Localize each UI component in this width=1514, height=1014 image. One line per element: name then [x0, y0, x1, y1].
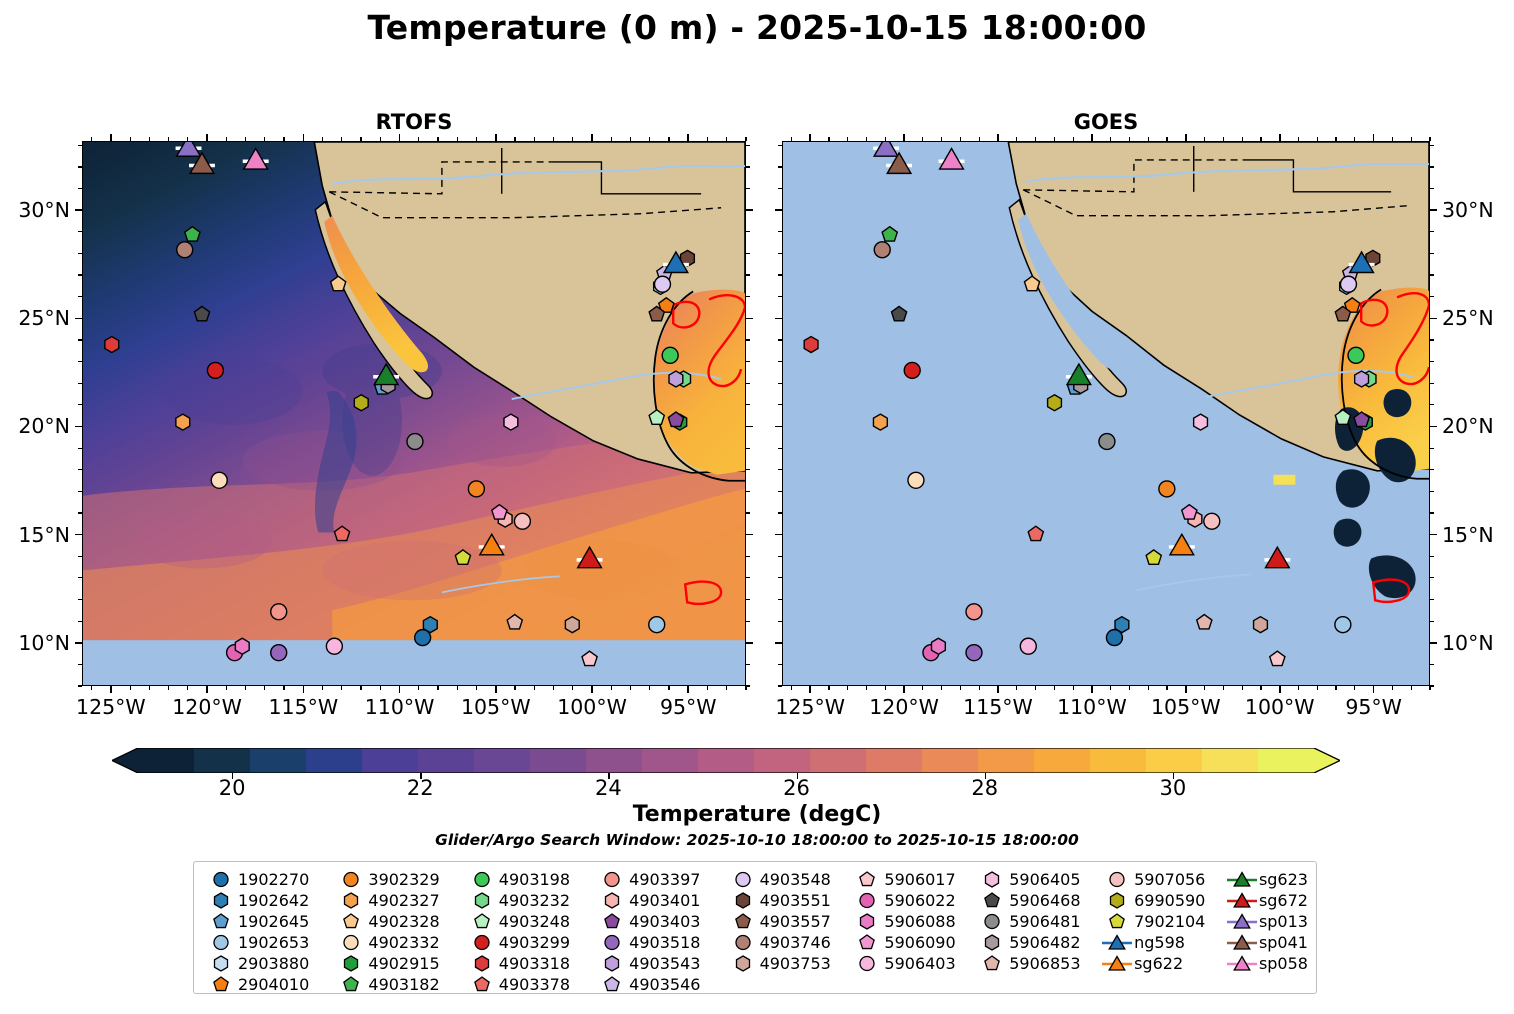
marker-4902327[interactable] — [873, 414, 887, 430]
ytick-rtofs-3 — [75, 318, 82, 320]
legend-label-sp058: sp058 — [1259, 954, 1308, 973]
marker-7902104[interactable] — [1146, 550, 1161, 564]
legend-label-5906481: 5906481 — [1009, 912, 1080, 931]
ytick-r-goes-4 — [1430, 209, 1437, 211]
ytick-rtofs-0 — [75, 642, 82, 644]
ytick-minor-r-rtofs-19 — [746, 448, 750, 449]
xtick-minor-rtofs--122 — [168, 686, 169, 690]
yticklabel-left-1: 15°N — [0, 523, 70, 547]
xtick-minor-goes--111 — [1073, 686, 1074, 690]
marker-7902104[interactable] — [455, 550, 470, 564]
ytick-minor-goes-11 — [778, 621, 782, 622]
xtick-minor-top-rtofs--102 — [553, 137, 554, 141]
xtick-goes-2 — [997, 686, 999, 693]
marker-4903753[interactable] — [565, 617, 579, 633]
marker-4903299[interactable] — [207, 362, 223, 378]
legend-item-5906022[interactable]: 5906022 — [850, 890, 975, 911]
colorbar-tick-1 — [420, 773, 421, 779]
xtick-minor-top-rtofs--109 — [418, 137, 419, 141]
ytick-minor-r-goes-11 — [1430, 621, 1434, 622]
xtick-minor-goes--116 — [979, 686, 980, 690]
ytick-minor-goes-14 — [778, 556, 782, 557]
legend-item-5906403[interactable]: 5906403 — [850, 953, 975, 974]
legend-item-4903378[interactable]: 4903378 — [465, 974, 595, 995]
colorbar-band-1 — [194, 748, 251, 773]
legend-item-sp013[interactable]: sp013 — [1225, 911, 1308, 932]
ytick-minor-rtofs-27 — [78, 274, 82, 275]
marker-4903299[interactable] — [904, 362, 920, 378]
legend-item-4902328[interactable]: 4902328 — [334, 911, 464, 932]
legend-item-4903401[interactable]: 4903401 — [595, 890, 725, 911]
ytick-minor-r-rtofs-21 — [746, 404, 750, 405]
ytick-minor-r-goes-31 — [1430, 188, 1434, 189]
marker-1902653[interactable] — [649, 617, 665, 633]
marker-5906090[interactable] — [1182, 505, 1197, 519]
legend-label-4902915: 4902915 — [368, 954, 439, 973]
xtick-top-goes-1 — [903, 134, 905, 141]
legend-marker-5906405 — [975, 869, 1009, 890]
xtick-minor-top-goes--99 — [1298, 137, 1299, 141]
legend-item-4903518[interactable]: 4903518 — [595, 932, 725, 953]
ytick-rtofs-1 — [75, 534, 82, 536]
xtick-minor-rtofs--118 — [245, 686, 246, 690]
colorbar-band-14 — [922, 748, 979, 773]
legend-item-sg622[interactable]: sg622 — [1100, 953, 1225, 974]
xtick-minor-top-rtofs--119 — [226, 137, 227, 141]
xticklabel-goes-4: 105°W — [1151, 695, 1221, 719]
legend-item-sg672[interactable]: sg672 — [1225, 890, 1308, 911]
marker-4902332[interactable] — [211, 472, 227, 488]
xticklabel-goes-1: 120°W — [869, 695, 939, 719]
xtick-minor-top-goes--94 — [1392, 137, 1393, 141]
legend-label-6990590: 6990590 — [1134, 891, 1205, 910]
legend-marker-5906468 — [975, 890, 1009, 911]
ytick-minor-goes-9 — [778, 664, 782, 665]
marker-sp058[interactable] — [939, 149, 965, 170]
xtick-goes-0 — [809, 686, 811, 693]
marker-4902328[interactable] — [331, 276, 346, 290]
ytick-r-rtofs-1 — [746, 534, 753, 536]
figure-suptitle: Temperature (0 m) - 2025-10-15 18:00:00 — [0, 8, 1514, 47]
legend-label-4903548: 4903548 — [760, 870, 831, 889]
ytick-minor-r-rtofs-32 — [746, 166, 750, 167]
xtick-minor-top-goes--109 — [1110, 137, 1111, 141]
xtick-minor-goes--99 — [1298, 686, 1299, 690]
legend-marker-4903557 — [726, 911, 760, 932]
legend-marker-4903232 — [465, 890, 499, 911]
xtick-minor-rtofs--92 — [745, 686, 746, 690]
xticklabel-rtofs-6: 95°W — [660, 695, 717, 719]
legend-marker-1902642 — [204, 890, 238, 911]
marker-sg622[interactable] — [1169, 534, 1195, 555]
marker-4903543[interactable] — [669, 371, 683, 387]
legend-item-5906468[interactable]: 5906468 — [975, 890, 1100, 911]
legend-item-4903543[interactable]: 4903543 — [595, 953, 725, 974]
ytick-minor-rtofs-28 — [78, 253, 82, 254]
marker-5906481[interactable] — [407, 434, 423, 450]
marker-5906481[interactable] — [1099, 434, 1115, 450]
ytick-minor-goes-33 — [778, 145, 782, 146]
marker-4902328[interactable] — [1024, 276, 1039, 290]
colorbar-tick-labels: 202224262830 — [0, 776, 1514, 802]
colorbar-ticklabel-0: 20 — [219, 776, 246, 800]
legend-item-4903557[interactable]: 4903557 — [726, 911, 851, 932]
legend-marker-5906022 — [850, 890, 884, 911]
marker-4903182[interactable] — [185, 227, 200, 241]
marker-4903548[interactable] — [1341, 276, 1357, 292]
legend-marker-sp041 — [1225, 932, 1259, 953]
marker-5906405[interactable] — [1194, 414, 1208, 430]
legend-column-2: 4903198490323249032484903299490331849033… — [465, 869, 595, 995]
marker-5906090[interactable] — [492, 505, 507, 519]
marker-1902642[interactable] — [1115, 617, 1129, 633]
marker-4903182[interactable] — [882, 227, 897, 241]
legend-item-4903551[interactable]: 4903551 — [726, 890, 851, 911]
xtick-minor-goes--104 — [1204, 686, 1205, 690]
ytick-minor-rtofs-26 — [78, 296, 82, 297]
legend-marker-sg622 — [1100, 953, 1134, 974]
xtick-goes-6 — [1373, 686, 1375, 693]
ytick-minor-rtofs-8 — [78, 685, 82, 686]
legend-item-5907056[interactable]: 5907056 — [1100, 869, 1225, 890]
legend-item-4903299[interactable]: 4903299 — [465, 932, 595, 953]
xtick-minor-rtofs--101 — [572, 686, 573, 690]
legend-item-7902104[interactable]: 7902104 — [1100, 911, 1225, 932]
colorbar-extend-max — [1314, 748, 1340, 773]
colorbar[interactable] — [112, 748, 1340, 773]
marker-5906088[interactable] — [235, 638, 249, 654]
marker-sg623[interactable] — [1066, 364, 1092, 385]
xtick-minor-top-goes--126 — [791, 137, 792, 141]
legend-marker-5906403 — [850, 953, 884, 974]
marker-1902642[interactable] — [423, 617, 437, 633]
marker-4902332[interactable] — [908, 472, 924, 488]
legend-item-1902653[interactable]: 1902653 — [204, 932, 334, 953]
colorbar-tick-5 — [1173, 773, 1174, 779]
xtick-minor-top-rtofs--98 — [630, 137, 631, 141]
marker-4903248[interactable] — [649, 410, 664, 424]
legend-item-4903397[interactable]: 4903397 — [595, 869, 725, 890]
legend-marker-4903378 — [465, 974, 499, 995]
colorbar-band-6 — [474, 748, 531, 773]
xtick-minor-top-goes--101 — [1260, 137, 1261, 141]
legend-marker-ng598 — [1100, 932, 1134, 953]
xtick-minor-top-goes--112 — [1054, 137, 1055, 141]
xtick-minor-top-rtofs--103 — [534, 137, 535, 141]
marker-5907056[interactable] — [514, 513, 530, 529]
xtick-minor-top-rtofs--113 — [341, 137, 342, 141]
xtick-minor-rtofs--112 — [360, 686, 361, 690]
marker-5906853[interactable] — [507, 615, 522, 629]
ytick-minor-goes-29 — [778, 231, 782, 232]
marker-4903198[interactable] — [1348, 347, 1364, 363]
xtick-top-goes-2 — [997, 134, 999, 141]
xtick-minor-goes--98 — [1317, 686, 1318, 690]
legend-item-sp058[interactable]: sp058 — [1225, 953, 1308, 974]
colorbar-band-4 — [362, 748, 419, 773]
ytick-minor-goes-27 — [778, 274, 782, 275]
legend-label-4903299: 4903299 — [499, 933, 570, 952]
legend-item-sp041[interactable]: sp041 — [1225, 932, 1308, 953]
legend-marker-4903548 — [726, 869, 760, 890]
marker-sp013[interactable] — [176, 142, 202, 156]
legend-item-2903880[interactable]: 2903880 — [204, 953, 334, 974]
legend-marker-5906482 — [975, 932, 1009, 953]
xtick-goes-3 — [1091, 686, 1093, 693]
ytick-minor-goes-13 — [778, 577, 782, 578]
marker-4903403[interactable] — [1354, 412, 1369, 426]
ytick-minor-r-rtofs-26 — [746, 296, 750, 297]
legend-marker-sp058 — [1225, 953, 1259, 974]
marker-4903248[interactable] — [1335, 410, 1350, 424]
legend-item-1902642[interactable]: 1902642 — [204, 890, 334, 911]
ytick-minor-rtofs-9 — [78, 664, 82, 665]
xtick-minor-rtofs--113 — [341, 686, 342, 690]
legend-item-1902645[interactable]: 1902645 — [204, 911, 334, 932]
xtick-minor-goes--109 — [1110, 686, 1111, 690]
marker-4903378[interactable] — [1028, 526, 1043, 540]
map-panel-rtofs[interactable] — [82, 141, 746, 686]
marker-1902653[interactable] — [1335, 617, 1351, 633]
legend-item-4903232[interactable]: 4903232 — [465, 890, 595, 911]
marker-3902329[interactable] — [1159, 481, 1175, 497]
xticklabel-rtofs-0: 125°W — [76, 695, 146, 719]
ytick-r-goes-0 — [1430, 642, 1437, 644]
legend-item-4903182[interactable]: 4903182 — [334, 974, 464, 995]
ytick-rtofs-4 — [75, 209, 82, 211]
ytick-minor-r-goes-8 — [1430, 685, 1434, 686]
legend-column-4: 49035484903551490355749037464903753 — [726, 869, 851, 974]
xtick-goes-4 — [1185, 686, 1187, 693]
legend-label-sg672: sg672 — [1259, 891, 1308, 910]
xtick-minor-goes--112 — [1054, 686, 1055, 690]
legend-label-4903551: 4903551 — [760, 891, 831, 910]
xtick-top-rtofs-1 — [206, 134, 208, 141]
marker-4903403[interactable] — [668, 412, 683, 426]
marker-5906017[interactable] — [1270, 651, 1285, 665]
xtick-top-rtofs-0 — [110, 134, 112, 141]
marker-sg622[interactable] — [479, 534, 505, 555]
colorbar-gradient — [112, 748, 1340, 773]
marker-4903746[interactable] — [177, 242, 193, 258]
ytick-minor-r-goes-9 — [1430, 664, 1434, 665]
legend-item-5906088[interactable]: 5906088 — [850, 911, 975, 932]
legend-item-5906482[interactable]: 5906482 — [975, 932, 1100, 953]
legend-item-4902332[interactable]: 4902332 — [334, 932, 464, 953]
marker-4903397[interactable] — [966, 604, 982, 620]
marker-4903548[interactable] — [655, 276, 671, 292]
xtick-minor-goes--97 — [1335, 686, 1336, 690]
xtick-minor-top-rtofs--106 — [476, 137, 477, 141]
ytick-minor-rtofs-11 — [78, 621, 82, 622]
search-window-caption: Glider/Argo Search Window: 2025-10-10 18… — [0, 831, 1514, 849]
legend-label-1902642: 1902642 — [238, 891, 309, 910]
xtick-minor-top-goes--123 — [847, 137, 848, 141]
xtick-top-rtofs-4 — [495, 134, 497, 141]
marker-4903318[interactable] — [105, 337, 119, 353]
ytick-minor-goes-22 — [778, 383, 782, 384]
legend-label-5906403: 5906403 — [884, 954, 955, 973]
goes-observation-markers[interactable] — [783, 142, 1429, 685]
legend-item-5906017[interactable]: 5906017 — [850, 869, 975, 890]
marker-sp058[interactable] — [243, 149, 269, 170]
xtick-rtofs-0 — [110, 686, 112, 693]
ytick-minor-r-goes-13 — [1430, 577, 1434, 578]
xtick-minor-rtofs--94 — [707, 686, 708, 690]
legend-item-4903746[interactable]: 4903746 — [726, 932, 851, 953]
ytick-minor-r-rtofs-27 — [746, 274, 750, 275]
legend-item-ng598[interactable]: ng598 — [1100, 932, 1225, 953]
xtick-minor-rtofs--106 — [476, 686, 477, 690]
legend-item-4903403[interactable]: 4903403 — [595, 911, 725, 932]
marker-4903543[interactable] — [1355, 371, 1369, 387]
marker-4903198[interactable] — [662, 347, 678, 363]
legend-column-0: 1902270190264219026451902653290388029040… — [204, 869, 334, 995]
marker-5906853[interactable] — [1197, 615, 1212, 629]
map-panel-goes[interactable] — [782, 141, 1430, 686]
colorbar-band-20 — [1258, 748, 1315, 773]
marker-sg672[interactable] — [1264, 547, 1290, 568]
xtick-minor-goes--123 — [847, 686, 848, 690]
xtick-minor-goes--96 — [1354, 686, 1355, 690]
legend-marker-sg623 — [1225, 869, 1259, 890]
xtick-rtofs-4 — [495, 686, 497, 693]
marker-5906405[interactable] — [504, 414, 518, 430]
legend-item-3902329[interactable]: 3902329 — [334, 869, 464, 890]
legend-item-sg623[interactable]: sg623 — [1225, 869, 1308, 890]
legend-marker-4903318 — [465, 953, 499, 974]
ytick-minor-goes-23 — [778, 361, 782, 362]
legend-item-6990590[interactable]: 6990590 — [1100, 890, 1225, 911]
legend-label-5907056: 5907056 — [1134, 870, 1205, 889]
xtick-minor-top-goes--102 — [1242, 137, 1243, 141]
xtick-minor-rtofs--96 — [668, 686, 669, 690]
marker-4903753[interactable] — [1254, 617, 1268, 633]
ytick-minor-r-rtofs-17 — [746, 491, 750, 492]
legend-item-5906405[interactable]: 5906405 — [975, 869, 1100, 890]
legend-item-4903248[interactable]: 4903248 — [465, 911, 595, 932]
xtick-minor-top-goes--116 — [979, 137, 980, 141]
marker-5906468[interactable] — [194, 306, 209, 320]
ytick-minor-rtofs-13 — [78, 577, 82, 578]
legend-marker-2904010 — [204, 974, 238, 995]
marker-3902329[interactable] — [468, 481, 484, 497]
legend-marker-4903198 — [465, 869, 499, 890]
legend-item-4903753[interactable]: 4903753 — [726, 953, 851, 974]
xtick-minor-top-goes--119 — [922, 137, 923, 141]
ytick-minor-rtofs-29 — [78, 231, 82, 232]
ytick-minor-r-rtofs-11 — [746, 621, 750, 622]
marker-5906468[interactable] — [892, 306, 907, 320]
colorbar-tick-3 — [797, 773, 798, 779]
xtick-minor-top-rtofs--126 — [91, 137, 92, 141]
xtick-top-rtofs-2 — [303, 134, 305, 141]
legend-item-4902327[interactable]: 4902327 — [334, 890, 464, 911]
marker-5906403[interactable] — [1020, 638, 1036, 654]
marker-5906088[interactable] — [932, 638, 946, 654]
legend-marker-4903543 — [595, 953, 629, 974]
platform-legend[interactable]: 1902270190264219026451902653290388029040… — [193, 861, 1317, 994]
legend-marker-7902104 — [1100, 911, 1134, 932]
xtick-minor-rtofs--124 — [130, 686, 131, 690]
ytick-minor-goes-32 — [778, 166, 782, 167]
xtick-minor-top-rtofs--96 — [668, 137, 669, 141]
marker-5906403[interactable] — [326, 638, 342, 654]
xtick-minor-rtofs--107 — [457, 686, 458, 690]
xtick-top-goes-3 — [1091, 134, 1093, 141]
colorbar-band-10 — [698, 748, 755, 773]
xticklabel-rtofs-5: 100°W — [557, 695, 627, 719]
xtick-minor-rtofs--114 — [322, 686, 323, 690]
legend-label-4903198: 4903198 — [499, 870, 570, 889]
legend-item-2904010[interactable]: 2904010 — [204, 974, 334, 995]
legend-item-4903198[interactable]: 4903198 — [465, 869, 595, 890]
legend-label-4903182: 4903182 — [368, 975, 439, 994]
marker-4903518[interactable] — [966, 645, 982, 661]
ytick-minor-rtofs-16 — [78, 512, 82, 513]
marker-sp013[interactable] — [873, 142, 899, 156]
xtick-minor-rtofs--93 — [726, 686, 727, 690]
legend-item-4902915[interactable]: 4902915 — [334, 953, 464, 974]
marker-6990590[interactable] — [354, 395, 368, 411]
legend-item-4903546[interactable]: 4903546 — [595, 974, 725, 995]
ytick-minor-r-rtofs-31 — [746, 188, 750, 189]
legend-item-5906090[interactable]: 5906090 — [850, 932, 975, 953]
ytick-minor-rtofs-19 — [78, 448, 82, 449]
colorbar-band-18 — [1146, 748, 1203, 773]
marker-5906017[interactable] — [582, 651, 597, 665]
marker-4903378[interactable] — [334, 526, 349, 540]
rtofs-observation-markers[interactable] — [83, 142, 745, 685]
marker-sg623[interactable] — [373, 364, 399, 385]
legend-marker-sp013 — [1225, 911, 1259, 932]
xtick-minor-rtofs--116 — [283, 686, 284, 690]
ytick-minor-r-rtofs-13 — [746, 577, 750, 578]
legend-marker-2903880 — [204, 953, 238, 974]
legend-item-5906853[interactable]: 5906853 — [975, 953, 1100, 974]
marker-4903397[interactable] — [271, 604, 287, 620]
ytick-minor-r-rtofs-28 — [746, 253, 750, 254]
xtick-minor-rtofs--108 — [437, 686, 438, 690]
legend-item-4903318[interactable]: 4903318 — [465, 953, 595, 974]
colorbar-band-17 — [1090, 748, 1147, 773]
xtick-minor-top-rtofs--99 — [611, 137, 612, 141]
xtick-minor-top-goes--103 — [1223, 137, 1224, 141]
colorbar-ticklabel-2: 24 — [595, 776, 622, 800]
marker-6990590[interactable] — [1048, 395, 1062, 411]
marker-5907056[interactable] — [1204, 513, 1220, 529]
legend-label-5906017: 5906017 — [884, 870, 955, 889]
legend-label-2904010: 2904010 — [238, 975, 309, 994]
marker-4903746[interactable] — [874, 242, 890, 258]
marker-sg672[interactable] — [577, 547, 603, 568]
ytick-minor-rtofs-14 — [78, 556, 82, 557]
legend-item-5906481[interactable]: 5906481 — [975, 911, 1100, 932]
legend-marker-4903248 — [465, 911, 499, 932]
ytick-minor-r-rtofs-29 — [746, 231, 750, 232]
marker-4903318[interactable] — [804, 337, 818, 353]
ytick-minor-goes-28 — [778, 253, 782, 254]
legend-marker-5906090 — [850, 932, 884, 953]
ytick-minor-rtofs-17 — [78, 491, 82, 492]
ytick-minor-r-rtofs-16 — [746, 512, 750, 513]
marker-4902327[interactable] — [176, 414, 190, 430]
legend-item-4903548[interactable]: 4903548 — [726, 869, 851, 890]
marker-4903518[interactable] — [271, 645, 287, 661]
xtick-minor-rtofs--104 — [514, 686, 515, 690]
legend-item-1902270[interactable]: 1902270 — [204, 869, 334, 890]
ytick-minor-goes-12 — [778, 599, 782, 600]
